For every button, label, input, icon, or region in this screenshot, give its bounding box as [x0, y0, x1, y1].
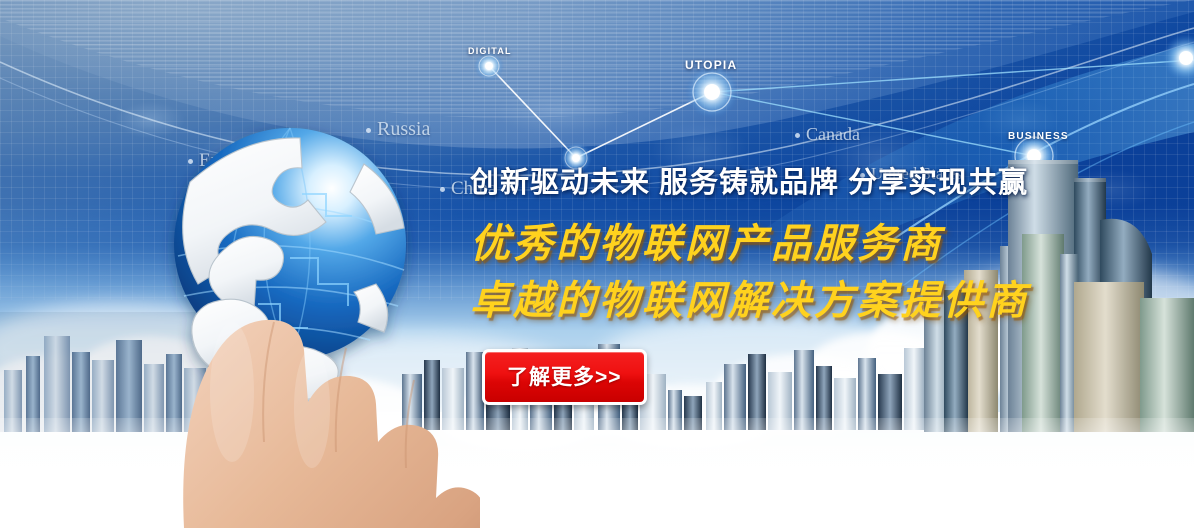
hero-subline-2: 卓越的物联网解决方案提供商 [470, 273, 1070, 330]
node-label-digital: DIGITAL [468, 46, 512, 56]
learn-more-button[interactable]: 了解更多>> [482, 349, 647, 405]
node-label-business: BUSINESS [1008, 131, 1069, 142]
hand-holding-globe [150, 108, 480, 528]
hero-banner: Russia Europe China Canada United States [0, 0, 1194, 528]
node-label-utopia: UTOPIA [685, 58, 737, 72]
hero-subline-1: 优秀的物联网产品服务商 [470, 216, 1070, 273]
hero-copy: 创新驱动未来 服务铸就品牌 分享实现共赢 优秀的物联网产品服务商 卓越的物联网解… [470, 168, 1070, 405]
hero-headline: 创新驱动未来 服务铸就品牌 分享实现共赢 [470, 168, 1070, 200]
map-label-canada: Canada [795, 124, 860, 145]
